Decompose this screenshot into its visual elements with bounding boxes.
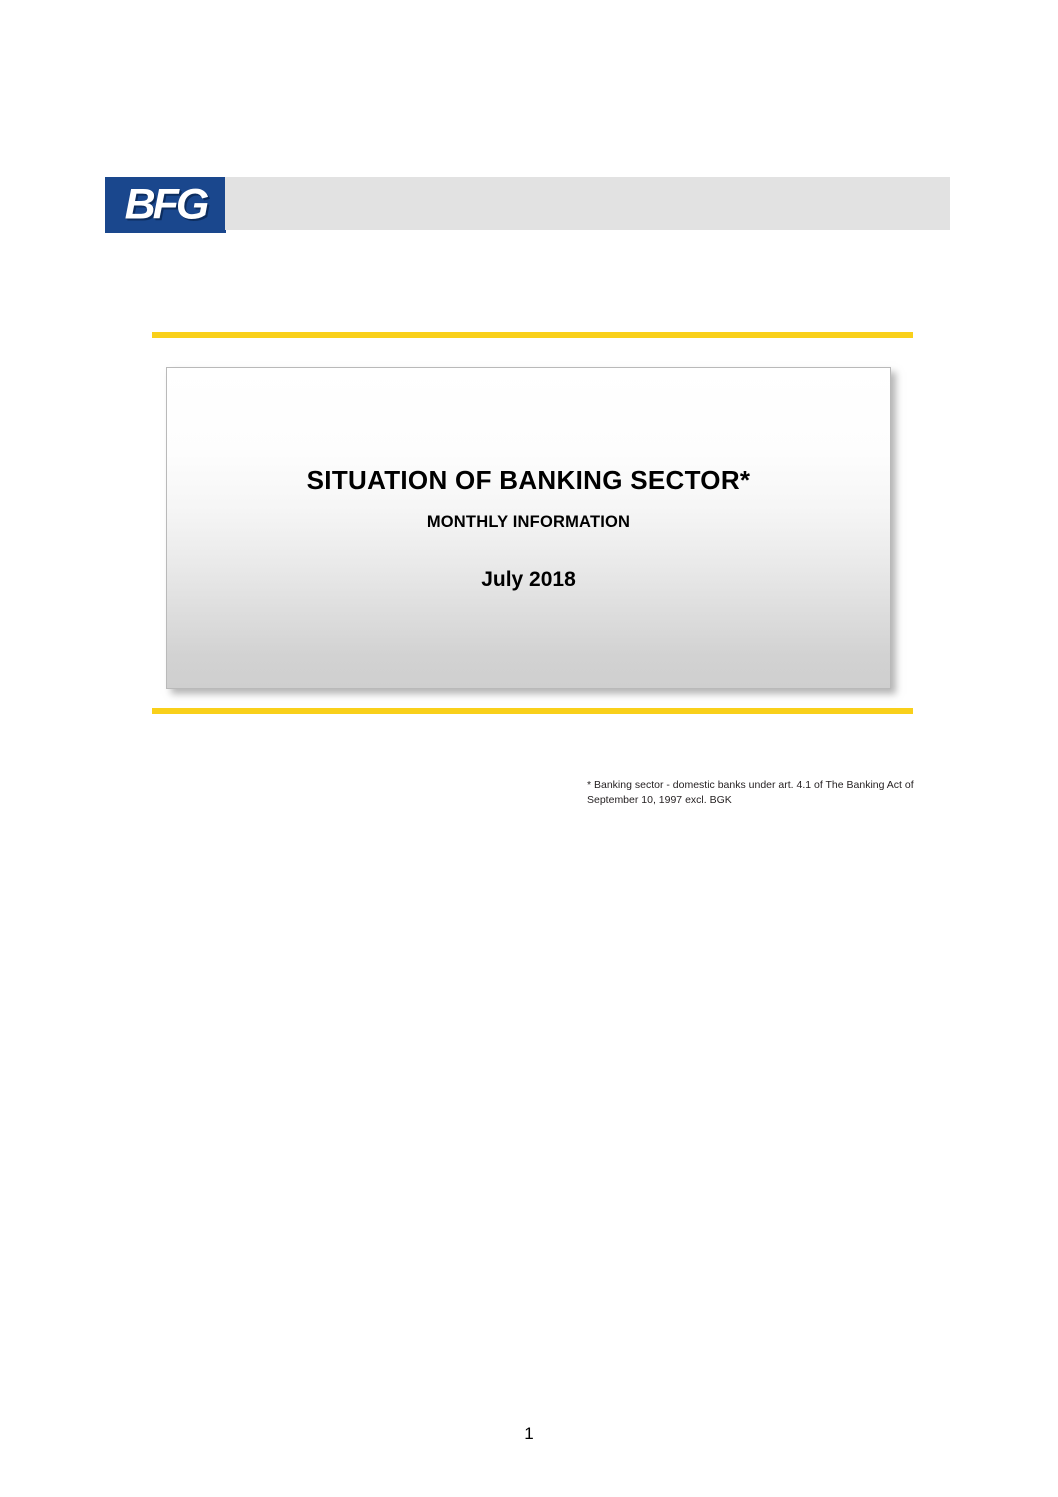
- page-title: SITUATION OF BANKING SECTOR*: [167, 466, 890, 495]
- header-bar: [225, 177, 950, 230]
- title-panel: SITUATION OF BANKING SECTOR* MONTHLY INF…: [166, 367, 891, 689]
- footnote: * Banking sector - domestic banks under …: [587, 778, 947, 808]
- footnote-line-2: September 10, 1997 excl. BGK: [587, 793, 947, 808]
- page-number: 1: [0, 1424, 1058, 1444]
- document-page: BFG SITUATION OF BANKING SECTOR* MONTHLY…: [0, 0, 1058, 1497]
- bfg-logo-text: BFG: [125, 184, 207, 227]
- bfg-logo: BFG: [105, 177, 226, 233]
- page-subtitle: MONTHLY INFORMATION: [167, 513, 890, 532]
- footnote-line-1: * Banking sector - domestic banks under …: [587, 778, 947, 793]
- page-date: July 2018: [167, 568, 890, 592]
- page-header: BFG: [105, 177, 950, 233]
- accent-rule-top: [152, 332, 913, 338]
- accent-rule-bottom: [152, 708, 913, 714]
